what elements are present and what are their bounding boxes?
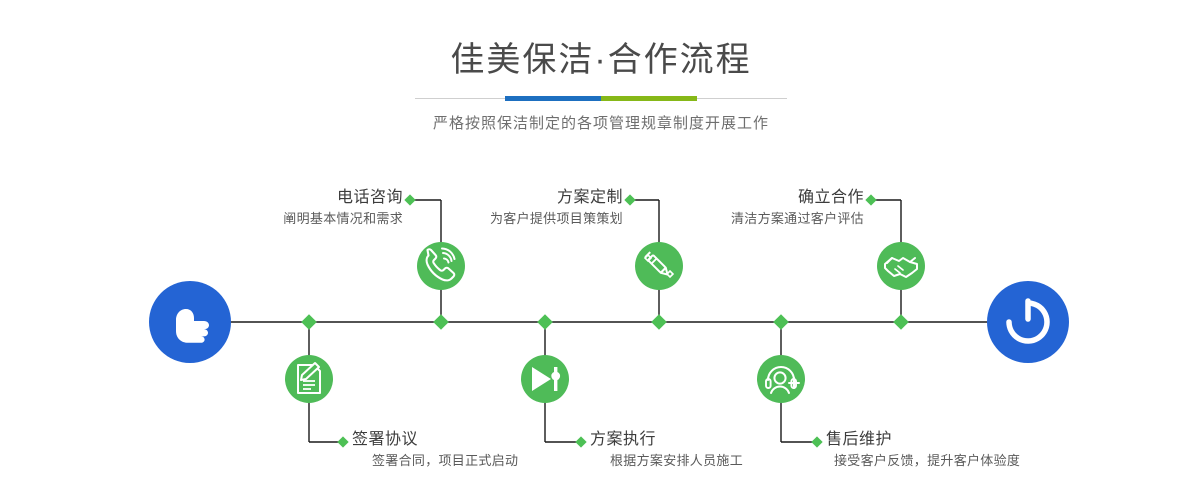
start-node[interactable] — [149, 281, 231, 363]
step-title: 确立合作 — [666, 187, 864, 209]
step-desc: 清洁方案通过客户评估 — [666, 209, 864, 229]
step-title: 方案执行 — [590, 429, 850, 451]
step-title: 方案定制 — [425, 187, 623, 209]
step-desc: 为客户提供项目策策划 — [425, 209, 623, 229]
step-desc: 阐明基本情况和需求 — [205, 209, 403, 229]
step-title: 售后维护 — [826, 429, 1126, 451]
step-desc: 签署合同，项目正式启动 — [352, 451, 612, 471]
step-title: 签署协议 — [352, 429, 612, 451]
step-icon-2[interactable] — [285, 355, 333, 403]
step-label-2: 签署协议 签署合同，项目正式启动 — [352, 429, 612, 471]
step-icon-3[interactable] — [635, 242, 683, 290]
step-label-3: 方案定制 为客户提供项目策策划 — [425, 187, 623, 229]
label-diamond-markers — [337, 194, 876, 447]
step-label-6: 售后维护 接受客户反馈，提升客户体验度 — [826, 429, 1126, 471]
step-label-4: 方案执行 根据方案安排人员施工 — [590, 429, 850, 471]
process-flow-diagram — [0, 0, 1202, 502]
step-icon-4[interactable] — [521, 355, 569, 403]
step-desc: 接受客户反馈，提升客户体验度 — [826, 451, 1126, 471]
step-label-5: 确立合作 清洁方案通过客户评估 — [666, 187, 864, 229]
step-label-1: 电话咨询 阐明基本情况和需求 — [205, 187, 403, 229]
step-title: 电话咨询 — [205, 187, 403, 209]
step-icon-5[interactable] — [877, 242, 925, 290]
end-node[interactable] — [987, 281, 1069, 363]
step-desc: 根据方案安排人员施工 — [590, 451, 850, 471]
step-icon-1[interactable] — [417, 242, 465, 290]
step-icon-6[interactable] — [757, 355, 805, 403]
